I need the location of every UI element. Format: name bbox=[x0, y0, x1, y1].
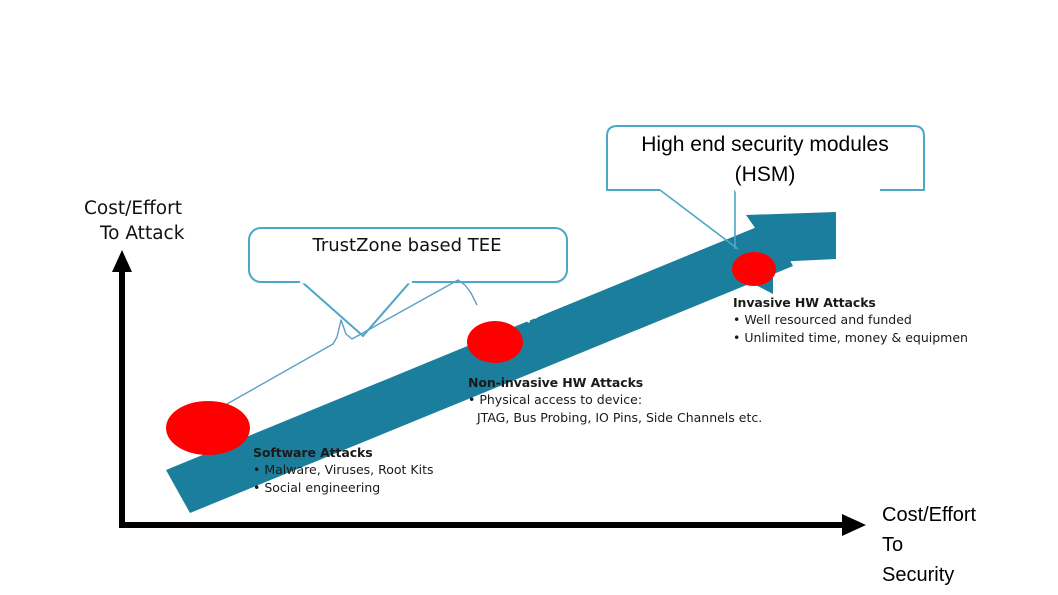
y-axis-label-line2: To Attack bbox=[84, 221, 274, 246]
callout-hsm-label-line2: (HSM) bbox=[600, 160, 930, 190]
x-axis-label-line1: Cost/Effort bbox=[882, 500, 1058, 530]
callout-trustzone-label: TrustZone based TEE bbox=[253, 234, 561, 258]
x-axis-label-line2: To bbox=[882, 530, 1058, 560]
node-text-software: Software Attacks • Malware, Viruses, Roo… bbox=[253, 444, 513, 497]
callout-trustzone-tail bbox=[302, 282, 410, 336]
node-title-invasive-hw: Invasive HW Attacks bbox=[733, 294, 1033, 311]
node-text-non-invasive-hw: Non-invasive HW Attacks • Physical acces… bbox=[468, 374, 788, 427]
callout-hsm-leader-diagonal bbox=[660, 190, 738, 249]
trustzone-brace-right-cap bbox=[465, 285, 477, 305]
y-axis-label: Cost/Effort To Attack bbox=[84, 196, 274, 246]
node-item: • Well resourced and funded bbox=[733, 311, 1033, 329]
node-item: • Unlimited time, money & equipmen bbox=[733, 329, 1033, 347]
callout-hsm-label-line1: High end security modules bbox=[600, 130, 930, 160]
node-item: JTAG, Bus Probing, IO Pins, Side Channel… bbox=[468, 409, 788, 427]
node-marker-software[interactable] bbox=[166, 401, 250, 455]
x-axis-label: Cost/Effort To Security bbox=[882, 500, 1058, 590]
node-title-non-invasive-hw: Non-invasive HW Attacks bbox=[468, 374, 788, 391]
node-marker-invasive-hw[interactable] bbox=[732, 252, 776, 286]
y-axis-label-line1: Cost/Effort bbox=[84, 198, 182, 219]
x-axis-label-line3: Security bbox=[882, 560, 1058, 590]
x-axis-arrowhead-icon bbox=[842, 514, 866, 536]
node-item: • Physical access to device: bbox=[468, 391, 788, 409]
diagram-canvas: Cost/Effort To Attack Cost/Effort To Sec… bbox=[0, 0, 1058, 595]
node-title-software: Software Attacks bbox=[253, 444, 513, 461]
node-item: • Social engineering bbox=[253, 479, 513, 497]
node-marker-non-invasive-hw[interactable] bbox=[467, 321, 523, 363]
node-item: • Malware, Viruses, Root Kits bbox=[253, 461, 513, 479]
callout-hsm-label: High end security modules (HSM) bbox=[600, 130, 930, 190]
y-axis-arrowhead-icon bbox=[112, 250, 132, 272]
node-text-invasive-hw: Invasive HW Attacks • Well resourced and… bbox=[733, 294, 1033, 347]
